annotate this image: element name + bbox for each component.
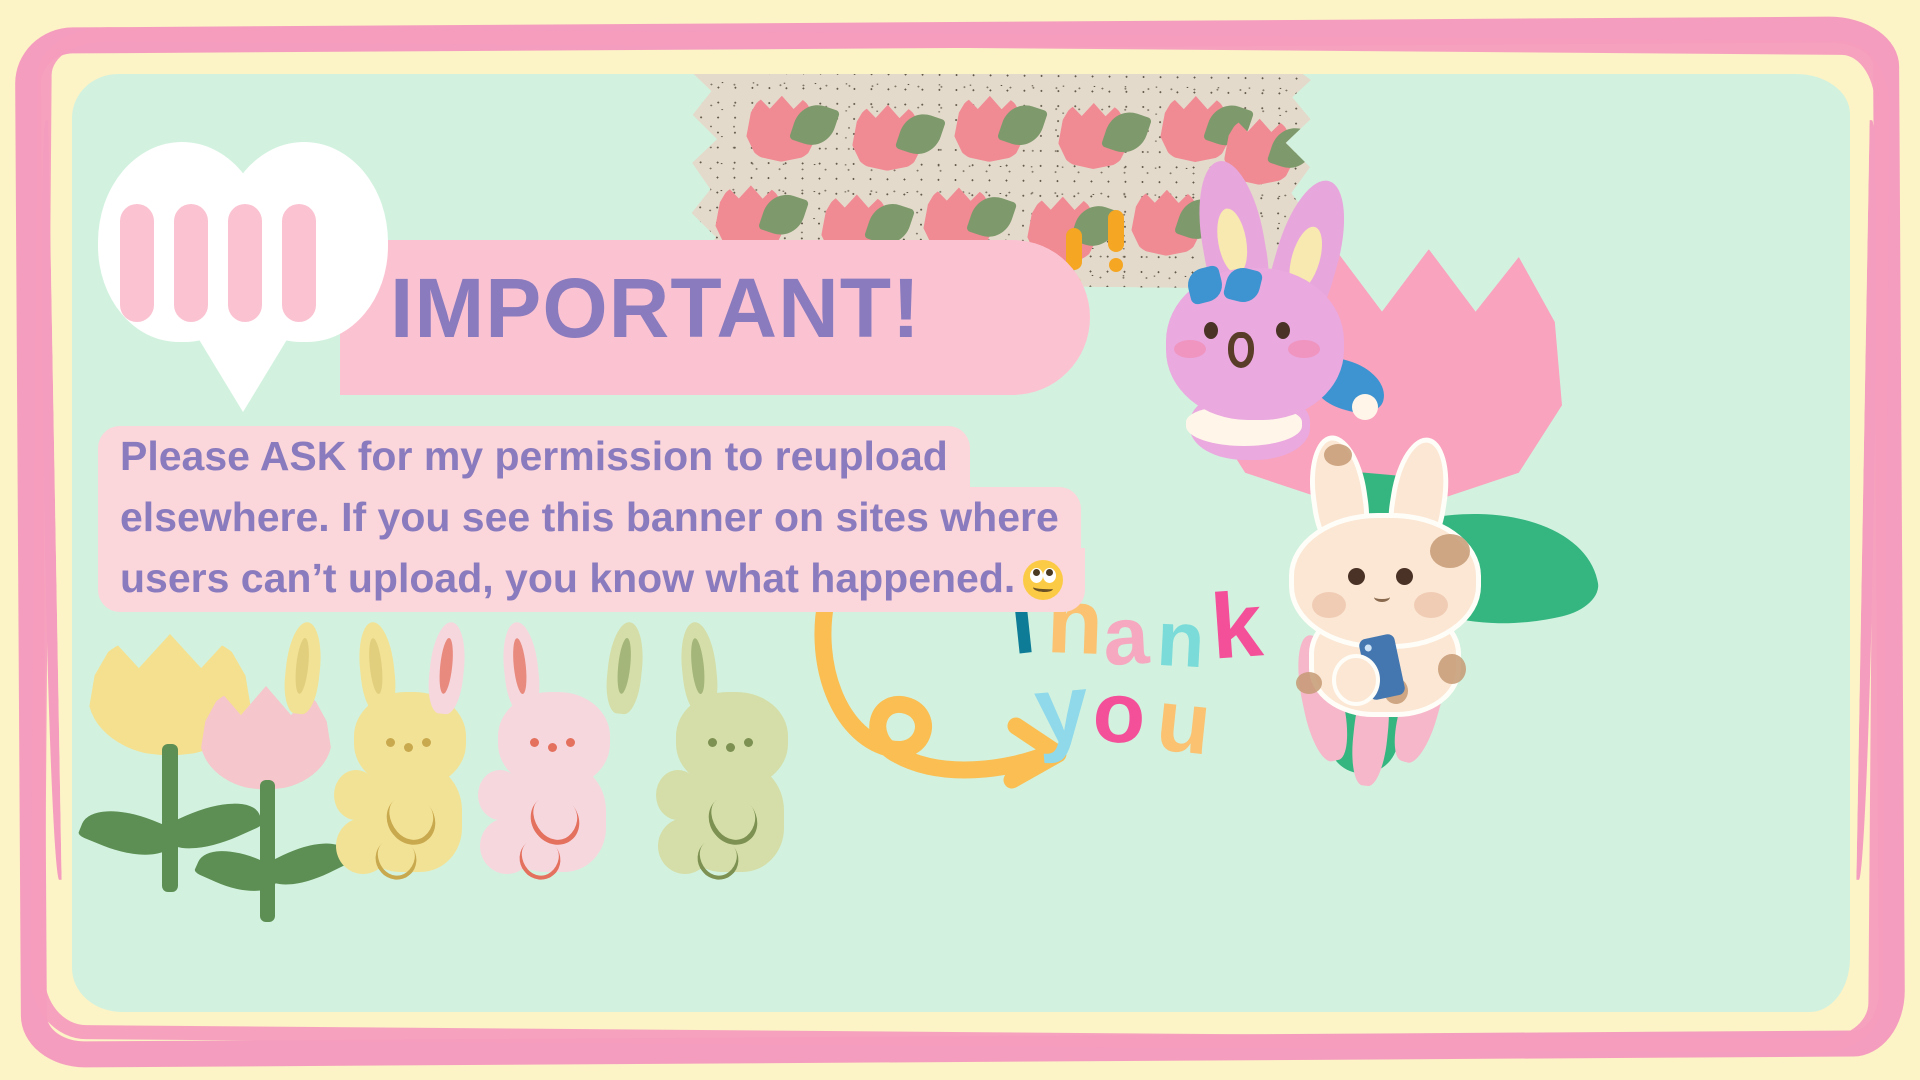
notice-paragraph: Please ASK for my permission to reupload… xyxy=(98,426,1158,612)
bunny-spot xyxy=(1430,534,1470,568)
white-heart-exclamation-sticker xyxy=(98,142,388,414)
bunny-cheek xyxy=(1288,340,1320,358)
paragraph-line-1: Please ASK for my permission to reupload xyxy=(98,426,970,489)
paragraph-line-2: elsewhere. If you see this banner on sit… xyxy=(98,487,1081,550)
bunny-cheek xyxy=(1414,592,1448,618)
bunny-pompom xyxy=(1352,394,1378,420)
thankyou-letter-y: y xyxy=(1031,660,1093,760)
bunny-eye xyxy=(1204,322,1218,339)
thankyou-letter-k: k xyxy=(1208,578,1265,673)
exclamation-bar xyxy=(120,204,154,322)
bunny-spot xyxy=(1324,444,1352,466)
thankyou-letter-u: u xyxy=(1153,675,1216,768)
bunny-nose xyxy=(1374,592,1390,602)
thankyou-letter-o: o xyxy=(1091,669,1148,758)
bunny-spot xyxy=(1438,654,1466,684)
exclamation-bar xyxy=(228,204,262,322)
blue-bow-icon xyxy=(1188,268,1260,302)
banner-canvas: T h a n k y o u xyxy=(0,0,1920,1080)
exclamation-bar xyxy=(282,204,316,322)
page-title: IMPORTANT! xyxy=(390,266,921,350)
pink-bunny-with-bow xyxy=(1130,150,1410,440)
exclamation-bar xyxy=(174,204,208,322)
bunny-eye xyxy=(1348,568,1365,585)
bunny-cheek xyxy=(1312,592,1346,618)
paragraph-line-3: users can’t upload, you know what happen… xyxy=(98,548,1085,612)
bunny-paw xyxy=(1336,658,1376,702)
paragraph-line-3-text: users can’t upload, you know what happen… xyxy=(120,555,1015,601)
bunny-mouth xyxy=(1228,332,1254,368)
bunny-cheek xyxy=(1174,340,1206,358)
thankyou-letter-n: n xyxy=(1155,599,1207,679)
exclamation-marks-group xyxy=(120,204,370,322)
bunny-eye xyxy=(1396,568,1413,585)
mint-card: T h a n k y o u xyxy=(72,74,1850,1012)
exclamation-mark xyxy=(1108,210,1124,272)
face-with-rolling-eyes-icon xyxy=(1023,560,1063,600)
bunny-eye xyxy=(1276,322,1290,339)
